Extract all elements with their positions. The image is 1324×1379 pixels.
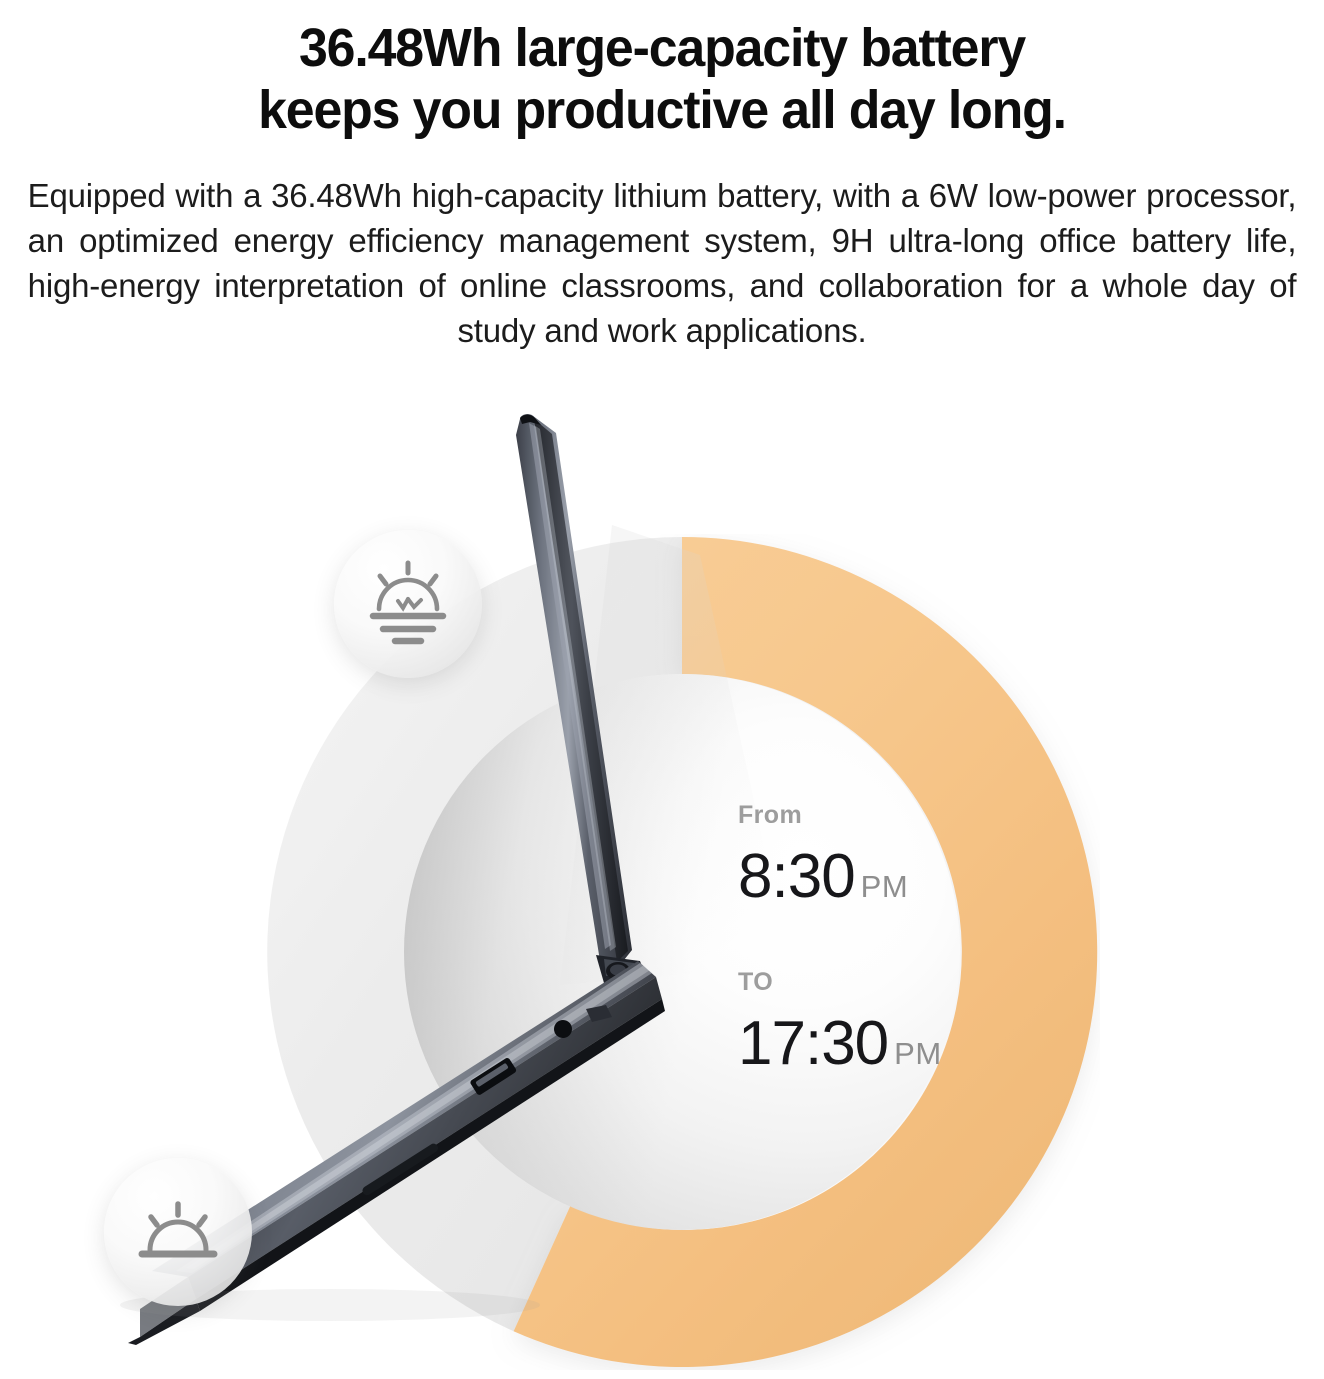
headline-line-1: 36.48Wh large-capacity battery xyxy=(299,18,1025,78)
to-time-row: 17:30 PM xyxy=(738,1013,1038,1075)
from-label: From xyxy=(738,803,1038,828)
hero-illustration: From 8:30 PM TO 17:30 PM xyxy=(0,405,1324,1379)
from-time-suffix: PM xyxy=(861,871,909,902)
sunrise-badge[interactable] xyxy=(104,1158,252,1306)
sunset-badge[interactable] xyxy=(334,530,482,678)
intro-text-block: 36.48Wh large-capacity battery keeps you… xyxy=(0,0,1324,355)
headline-line-2: keeps you productive all day long. xyxy=(258,80,1066,140)
time-spacer xyxy=(738,908,1038,970)
sunset-icon xyxy=(358,554,458,654)
to-time-suffix: PM xyxy=(894,1038,942,1069)
from-time-value: 8:30 xyxy=(738,846,855,908)
from-time-row: 8:30 PM xyxy=(738,846,1038,908)
schedule-readout: From 8:30 PM TO 17:30 PM xyxy=(738,803,1038,1075)
to-time-value: 17:30 xyxy=(738,1013,888,1075)
body-paragraph: Equipped with a 36.48Wh high-capacity li… xyxy=(28,175,1297,355)
to-label: TO xyxy=(738,970,1038,995)
page-title: 36.48Wh large-capacity battery keeps you… xyxy=(36,10,1288,141)
sunrise-icon xyxy=(128,1182,228,1282)
